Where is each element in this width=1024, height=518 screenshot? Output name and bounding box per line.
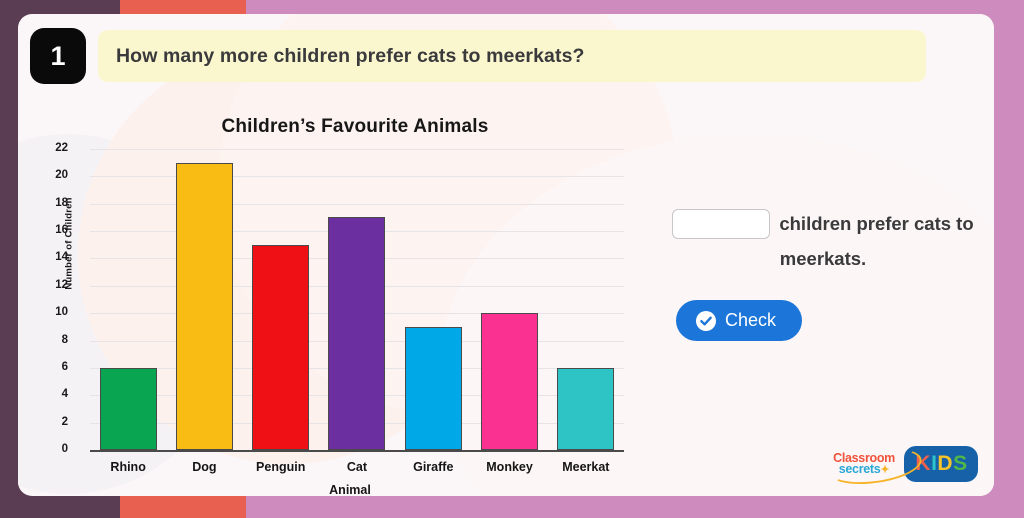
chart-y-tick: 18 (28, 197, 68, 209)
chart-y-tick: 2 (28, 416, 68, 428)
chart-bar-cell (472, 149, 548, 450)
kids-logo-i: I (931, 452, 936, 476)
chart-x-tick: Penguin (243, 460, 319, 478)
question-bar: How many more children prefer cats to me… (98, 30, 926, 82)
chart-y-tick: 16 (28, 224, 68, 236)
chart-bar-cell (319, 149, 395, 450)
chart-y-tick: 14 (28, 251, 68, 263)
chart-x-tick: Monkey (472, 460, 548, 478)
chart-x-tick-labels: RhinoDogPenguinCatGiraffeMonkeyMeerkat (90, 460, 624, 478)
chart-plot-area: 2220181614121086420 (76, 149, 624, 452)
chart-bar-cell (90, 149, 166, 450)
chart-bar-cell (243, 149, 319, 450)
chart-bar (176, 163, 233, 450)
chart-bars (90, 149, 624, 450)
chart-x-tick: Cat (319, 460, 395, 478)
chart-x-axis (90, 450, 624, 452)
chart-y-tick: 6 (28, 361, 68, 373)
chart-x-tick: Meerkat (548, 460, 624, 478)
question-number-badge: 1 (30, 28, 86, 84)
chart-y-tick: 12 (28, 279, 68, 291)
chart-x-axis-label: Animal (76, 483, 624, 496)
answer-panel: children prefer cats to meerkats. Check (658, 209, 988, 341)
answer-text-part1: children prefer cats to (779, 213, 973, 235)
answer-line-1: children prefer cats to (658, 209, 988, 239)
chart-bar (481, 313, 538, 450)
chart-x-tick: Rhino (90, 460, 166, 478)
question-text: How many more children prefer cats to me… (116, 45, 585, 68)
chart-bar (328, 217, 385, 450)
check-button[interactable]: Check (676, 300, 802, 341)
chart-bar (405, 327, 462, 450)
chart-y-tick: 22 (28, 142, 68, 154)
check-button-label: Check (725, 310, 776, 331)
classroom-secrets-logo: Classroom secrets✦ (833, 452, 895, 477)
kids-logo-s: S (953, 452, 967, 476)
chart-y-tick: 20 (28, 169, 68, 181)
chart-bar (100, 368, 157, 450)
page-root: 1 How many more children prefer cats to … (0, 0, 1024, 518)
chart-bar (557, 368, 614, 450)
logo-group: Classroom secrets✦ K I D S (833, 446, 978, 482)
question-header: 1 How many more children prefer cats to … (30, 28, 926, 84)
chart-y-tick: 10 (28, 306, 68, 318)
chart-x-tick: Dog (166, 460, 242, 478)
answer-text-part2: meerkats. (780, 248, 866, 269)
chart-y-tick: 0 (28, 443, 68, 455)
chart-bar (252, 245, 309, 450)
chart-y-tick: 8 (28, 334, 68, 346)
swoosh-icon (826, 442, 924, 489)
chart-y-tick: 4 (28, 388, 68, 400)
chart-bar-cell (395, 149, 471, 450)
activity-card: 1 How many more children prefer cats to … (18, 14, 994, 496)
check-circle-icon (696, 311, 716, 331)
chart-title: Children’s Favourite Animals (32, 116, 632, 138)
bar-chart: Children’s Favourite Animals Number of C… (32, 100, 632, 496)
answer-input[interactable] (672, 209, 770, 239)
answer-line-2: meerkats. (658, 248, 988, 270)
chart-x-tick: Giraffe (395, 460, 471, 478)
kids-logo-d: D (937, 452, 952, 476)
chart-bar-cell (166, 149, 242, 450)
chart-bar-cell (548, 149, 624, 450)
